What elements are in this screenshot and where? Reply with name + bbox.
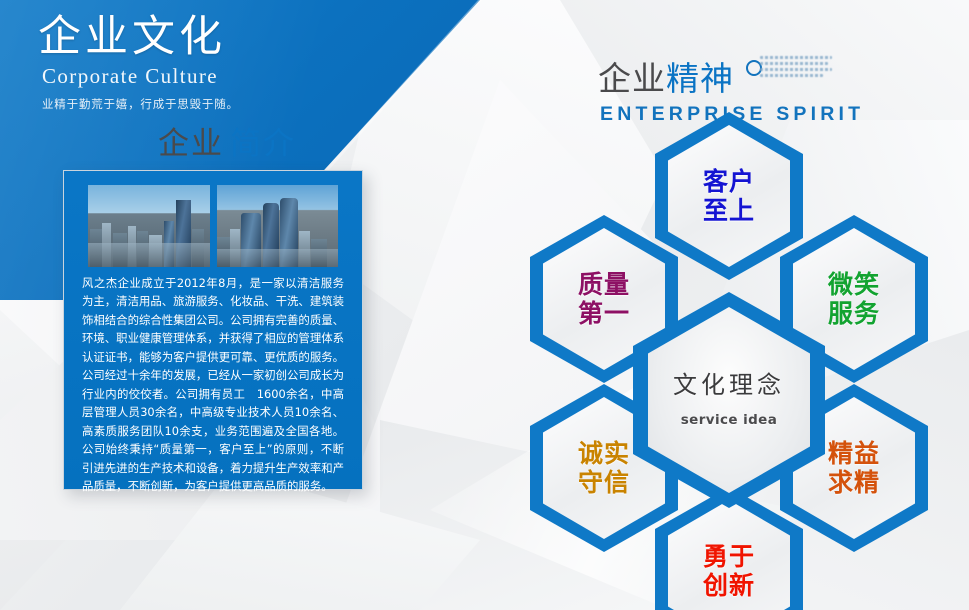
- center-label-cn: 文化理念: [673, 371, 785, 399]
- culture-honeycomb: 质量 第一 客户 至上 微笑 服务 诚实 守信: [488, 112, 969, 610]
- photo-strip: [88, 185, 338, 267]
- office-towers-photo: [217, 185, 339, 267]
- hex-label-line1: 微笑: [828, 270, 880, 300]
- page-title: 企业文化: [38, 14, 368, 62]
- spirit-title-dark: 企业: [598, 59, 666, 98]
- hex-label-line1: 精益: [828, 439, 880, 469]
- hex-label-line2: 求精: [828, 468, 880, 498]
- company-profile-text: 风之杰企业成立于2012年8月，是一家以清洁服务为主，清洁用品、旅游服务、化妆品…: [82, 274, 344, 496]
- corporate-culture-poster: 企业文化 Corporate Culture 业精于勤荒于嬉，行成于思毁于随。 …: [0, 0, 969, 610]
- hex-node-center-service-idea[interactable]: 文化理念 service idea: [633, 292, 825, 508]
- hex-label-line1: 诚实: [578, 439, 630, 469]
- hex-label-line2: 第一: [578, 299, 630, 329]
- hex-label-line1: 质量: [578, 270, 630, 300]
- profile-section-title-dark: 企业: [158, 126, 224, 162]
- decorative-text-lines: [760, 56, 832, 80]
- hex-label-line2: 至上: [703, 196, 755, 226]
- company-profile-card: 风之杰企业成立于2012年8月，是一家以清洁服务为主，清洁用品、旅游服务、化妆品…: [63, 170, 363, 490]
- hex-label-line2: 创新: [703, 571, 755, 601]
- spirit-title-blue: 精神: [666, 59, 734, 98]
- profile-section-title: 企业简介: [158, 118, 296, 163]
- hex-label-line1: 客户: [703, 167, 755, 197]
- hex-label-line2: 守信: [578, 468, 630, 498]
- city-skyline-photo: [88, 185, 210, 267]
- center-label-en: service idea: [681, 413, 778, 429]
- page-title-english: Corporate Culture: [42, 64, 368, 89]
- hex-label-line2: 服务: [828, 299, 880, 329]
- poster-header: 企业文化 Corporate Culture 业精于勤荒于嬉，行成于思毁于随。: [38, 14, 368, 112]
- page-subtitle: 业精于勤荒于嬉，行成于思毁于随。: [42, 96, 368, 112]
- hex-label-line1: 勇于: [703, 542, 755, 572]
- profile-section-title-blue: 简介: [230, 126, 296, 162]
